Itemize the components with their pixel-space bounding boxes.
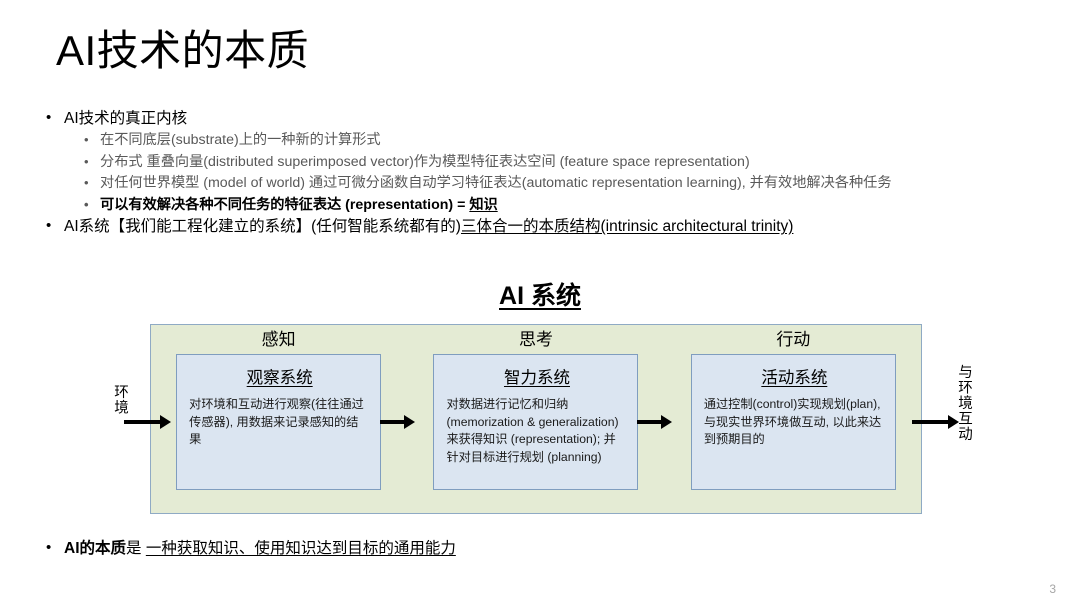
- bullet-level1-core: AI技术的真正内核: [44, 108, 1044, 130]
- stage-title-text: 智力系统: [504, 369, 570, 387]
- column-header-thinking: 思考: [407, 327, 664, 353]
- stage-box-observation: 观察系统 对环境和互动进行观察(往往通过传感器), 用数据来记录感知的结果: [176, 354, 381, 490]
- slide-canvas: AI技术的本质 AI技术的真正内核 在不同底层(substrate)上的一种新的…: [0, 0, 1080, 608]
- system-prefix-text: AI系统【我们能工程化建立的系统】(任何智能系统都有的): [64, 218, 461, 235]
- stage-box-body-intelligence: 对数据进行记忆和归纳 (memorization & generalizatio…: [446, 396, 627, 466]
- diagram-title: AI 系统: [0, 276, 1080, 312]
- diagram-stage-boxes: 观察系统 对环境和互动进行观察(往往通过传感器), 用数据来记录感知的结果 智力…: [150, 354, 922, 490]
- arrow-head: [160, 415, 171, 429]
- stage-box-title-intelligence: 智力系统: [446, 364, 627, 388]
- representation-text: 可以有效解决各种不同任务的特征表达 (representation) =: [100, 197, 469, 213]
- stage-slot-action: 活动系统 通过控制(control)实现规划(plan), 与现实世界环境做互动…: [665, 354, 922, 490]
- diagram-column-headers: 感知 思考 行动: [150, 327, 922, 353]
- arrow-shaft: [124, 420, 160, 424]
- bullet-level2-substrate: 在不同底层(substrate)上的一种新的计算形式: [82, 130, 1044, 152]
- bullet-level2-vector: 分布式 重叠向量(distributed superimposed vector…: [82, 152, 1044, 174]
- stage-title-text: 观察系统: [247, 369, 313, 387]
- arrow-shaft: [380, 420, 404, 424]
- footer-underline-text: 一种获取知识、使用知识达到目标的通用能力: [146, 540, 456, 557]
- system-trinity-text: 三体合一的本质结构(intrinsic architectural trinit…: [461, 218, 793, 235]
- stage-slot-perception: 观察系统 对环境和互动进行观察(往往通过传感器), 用数据来记录感知的结果: [150, 354, 407, 490]
- arrow-head: [404, 415, 415, 429]
- column-header-action: 行动: [665, 327, 922, 353]
- representation-knowledge: 知识: [469, 197, 497, 213]
- stage-box-title-observation: 观察系统: [189, 364, 370, 388]
- label-environment-interaction: 与环境互动: [954, 364, 975, 442]
- footer-bold-text: AI的本质: [64, 540, 126, 557]
- label-environment: 环境: [110, 384, 131, 415]
- bullet-list: AI技术的真正内核 在不同底层(substrate)上的一种新的计算形式 分布式…: [44, 108, 1044, 238]
- stage-title-text: 活动系统: [761, 369, 827, 387]
- bullet-level1-system: AI系统【我们能工程化建立的系统】(任何智能系统都有的)三体合一的本质结构(in…: [44, 216, 1044, 238]
- arrow-head: [661, 415, 672, 429]
- footer-conclusion-bullet: AI的本质是 一种获取知识、使用知识达到目标的通用能力: [44, 538, 456, 560]
- stage-box-title-activity: 活动系统: [704, 364, 885, 388]
- page-title: AI技术的本质: [56, 26, 309, 76]
- stage-box-body-observation: 对环境和互动进行观察(往往通过传感器), 用数据来记录感知的结果: [189, 396, 370, 449]
- stage-box-body-activity: 通过控制(control)实现规划(plan), 与现实世界环境做互动, 以此来…: [704, 396, 885, 449]
- stage-slot-thinking: 智力系统 对数据进行记忆和归纳 (memorization & generali…: [407, 354, 664, 490]
- stage-box-intelligence: 智力系统 对数据进行记忆和归纳 (memorization & generali…: [433, 354, 638, 490]
- column-header-perception: 感知: [150, 327, 407, 353]
- stage-box-activity: 活动系统 通过控制(control)实现规划(plan), 与现实世界环境做互动…: [691, 354, 896, 490]
- footer-middle-text: 是: [126, 540, 146, 557]
- page-number: 3: [1049, 582, 1056, 596]
- arrow-shaft: [637, 420, 661, 424]
- bullet-level2-representation: 可以有效解决各种不同任务的特征表达 (representation) = 知识: [82, 195, 1044, 217]
- diagram-title-text: AI 系统: [499, 282, 581, 310]
- ai-system-diagram: 感知 思考 行动 观察系统 对环境和互动进行观察(往往通过传感器), 用数据来记…: [112, 324, 968, 518]
- bullet-level2-world-model: 对任何世界模型 (model of world) 通过可微分函数自动学习特征表达…: [82, 173, 1044, 195]
- arrow-shaft: [912, 420, 948, 424]
